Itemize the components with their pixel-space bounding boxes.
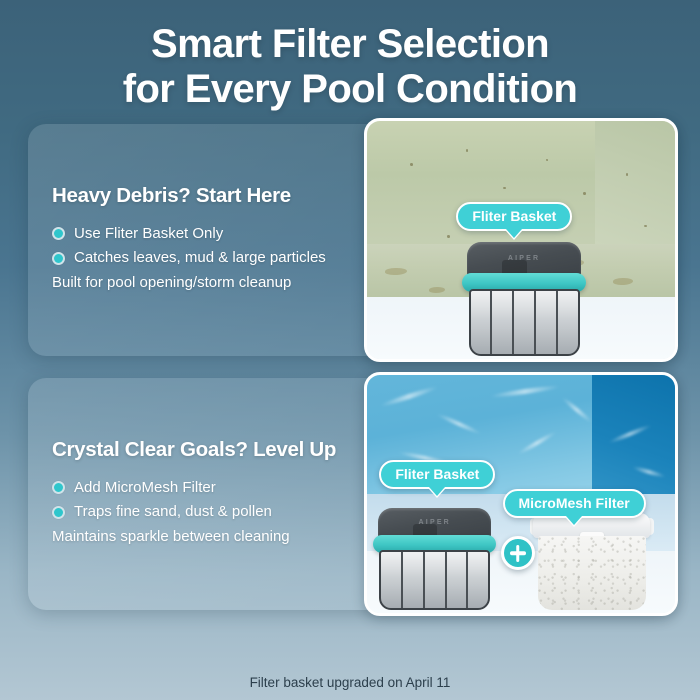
page-title-line-1: Smart Filter Selection [151,22,549,66]
bullet-dot-icon [52,252,65,265]
basket-slat [403,552,425,608]
bullet-dot-icon [52,227,65,240]
product-filter-basket: AIPER [462,242,585,356]
bullet-label: Catches leaves, mud & large particles [74,246,326,270]
bullet-dot-icon [52,506,65,519]
list-item: Use Fliter Basket Only [52,222,350,246]
label-pill-filter-basket: Fliter Basket [456,202,572,231]
card-heavy-debris-subnote: Built for pool opening/storm cleanup [52,271,350,295]
card-heavy-debris-title: Heavy Debris? Start Here [52,184,350,208]
card-heavy-debris-text: Heavy Debris? Start Here Use Fliter Bask… [28,124,364,356]
list-item: Traps fine sand, dust & pollen [52,500,350,524]
pool-wall-right [595,121,675,245]
bullet-label: Use Fliter Basket Only [74,222,223,246]
card-crystal-clear-subnote: Maintains sparkle between cleaning [52,525,350,549]
list-item: Add MicroMesh Filter [52,476,350,500]
bullet-label: Traps fine sand, dust & pollen [74,500,272,524]
card-heavy-debris-bullets: Use Fliter Basket Only Catches leaves, m… [52,222,350,271]
basket-slat [492,291,514,354]
basket-body [469,289,580,356]
product-filter-basket: AIPER [373,508,496,610]
basket-body [379,550,490,610]
card-heavy-debris[interactable]: Heavy Debris? Start Here Use Fliter Bask… [28,124,672,356]
label-pill-micromesh-filter: MicroMesh Filter [503,489,646,518]
debris-speck [466,149,468,152]
basket-slat [381,552,403,608]
card-list: Heavy Debris? Start Here Use Fliter Bask… [0,124,700,610]
label-pill-text: MicroMesh Filter [519,495,630,511]
product-micromesh-filter [533,513,650,611]
basket-slat [536,291,558,354]
card-crystal-clear[interactable]: Crystal Clear Goals? Level Up Add MicroM… [28,378,672,610]
footer-note-text: Filter basket upgraded on April 11 [250,675,451,690]
label-pill-filter-basket: Fliter Basket [379,460,495,489]
list-item: Catches leaves, mud & large particles [52,246,350,270]
debris-speck [447,235,450,238]
basket-slat [558,291,578,354]
label-pill-text: Fliter Basket [395,466,479,482]
bullet-dot-icon [52,481,65,494]
card-heavy-debris-photo: Fliter Basket AIPER [364,118,678,362]
label-pill-text: Fliter Basket [472,208,556,224]
card-crystal-clear-title: Crystal Clear Goals? Level Up [52,438,350,462]
basket-slat [447,552,469,608]
page-title: Smart Filter Selection for Every Pool Co… [20,22,680,112]
page-title-line-2: for Every Pool Condition [20,67,680,112]
basket-slat [514,291,536,354]
bullet-label: Add MicroMesh Filter [74,476,216,500]
card-crystal-clear-text: Crystal Clear Goals? Level Up Add MicroM… [28,378,364,610]
basket-slat [468,552,488,608]
card-crystal-clear-photo: Fliter Basket MicroMesh Filter AIPER [364,372,678,616]
debris-speck [546,159,548,161]
card-crystal-clear-bullets: Add MicroMesh Filter Traps fine sand, du… [52,476,350,525]
debris-speck [626,173,628,176]
debris-speck [583,192,586,195]
basket-slat [425,552,447,608]
footer-note-bar: Filter basket upgraded on April 11 [0,664,700,700]
basket-slat [471,291,493,354]
page-header: Smart Filter Selection for Every Pool Co… [0,0,700,124]
micromesh-body [538,536,646,610]
